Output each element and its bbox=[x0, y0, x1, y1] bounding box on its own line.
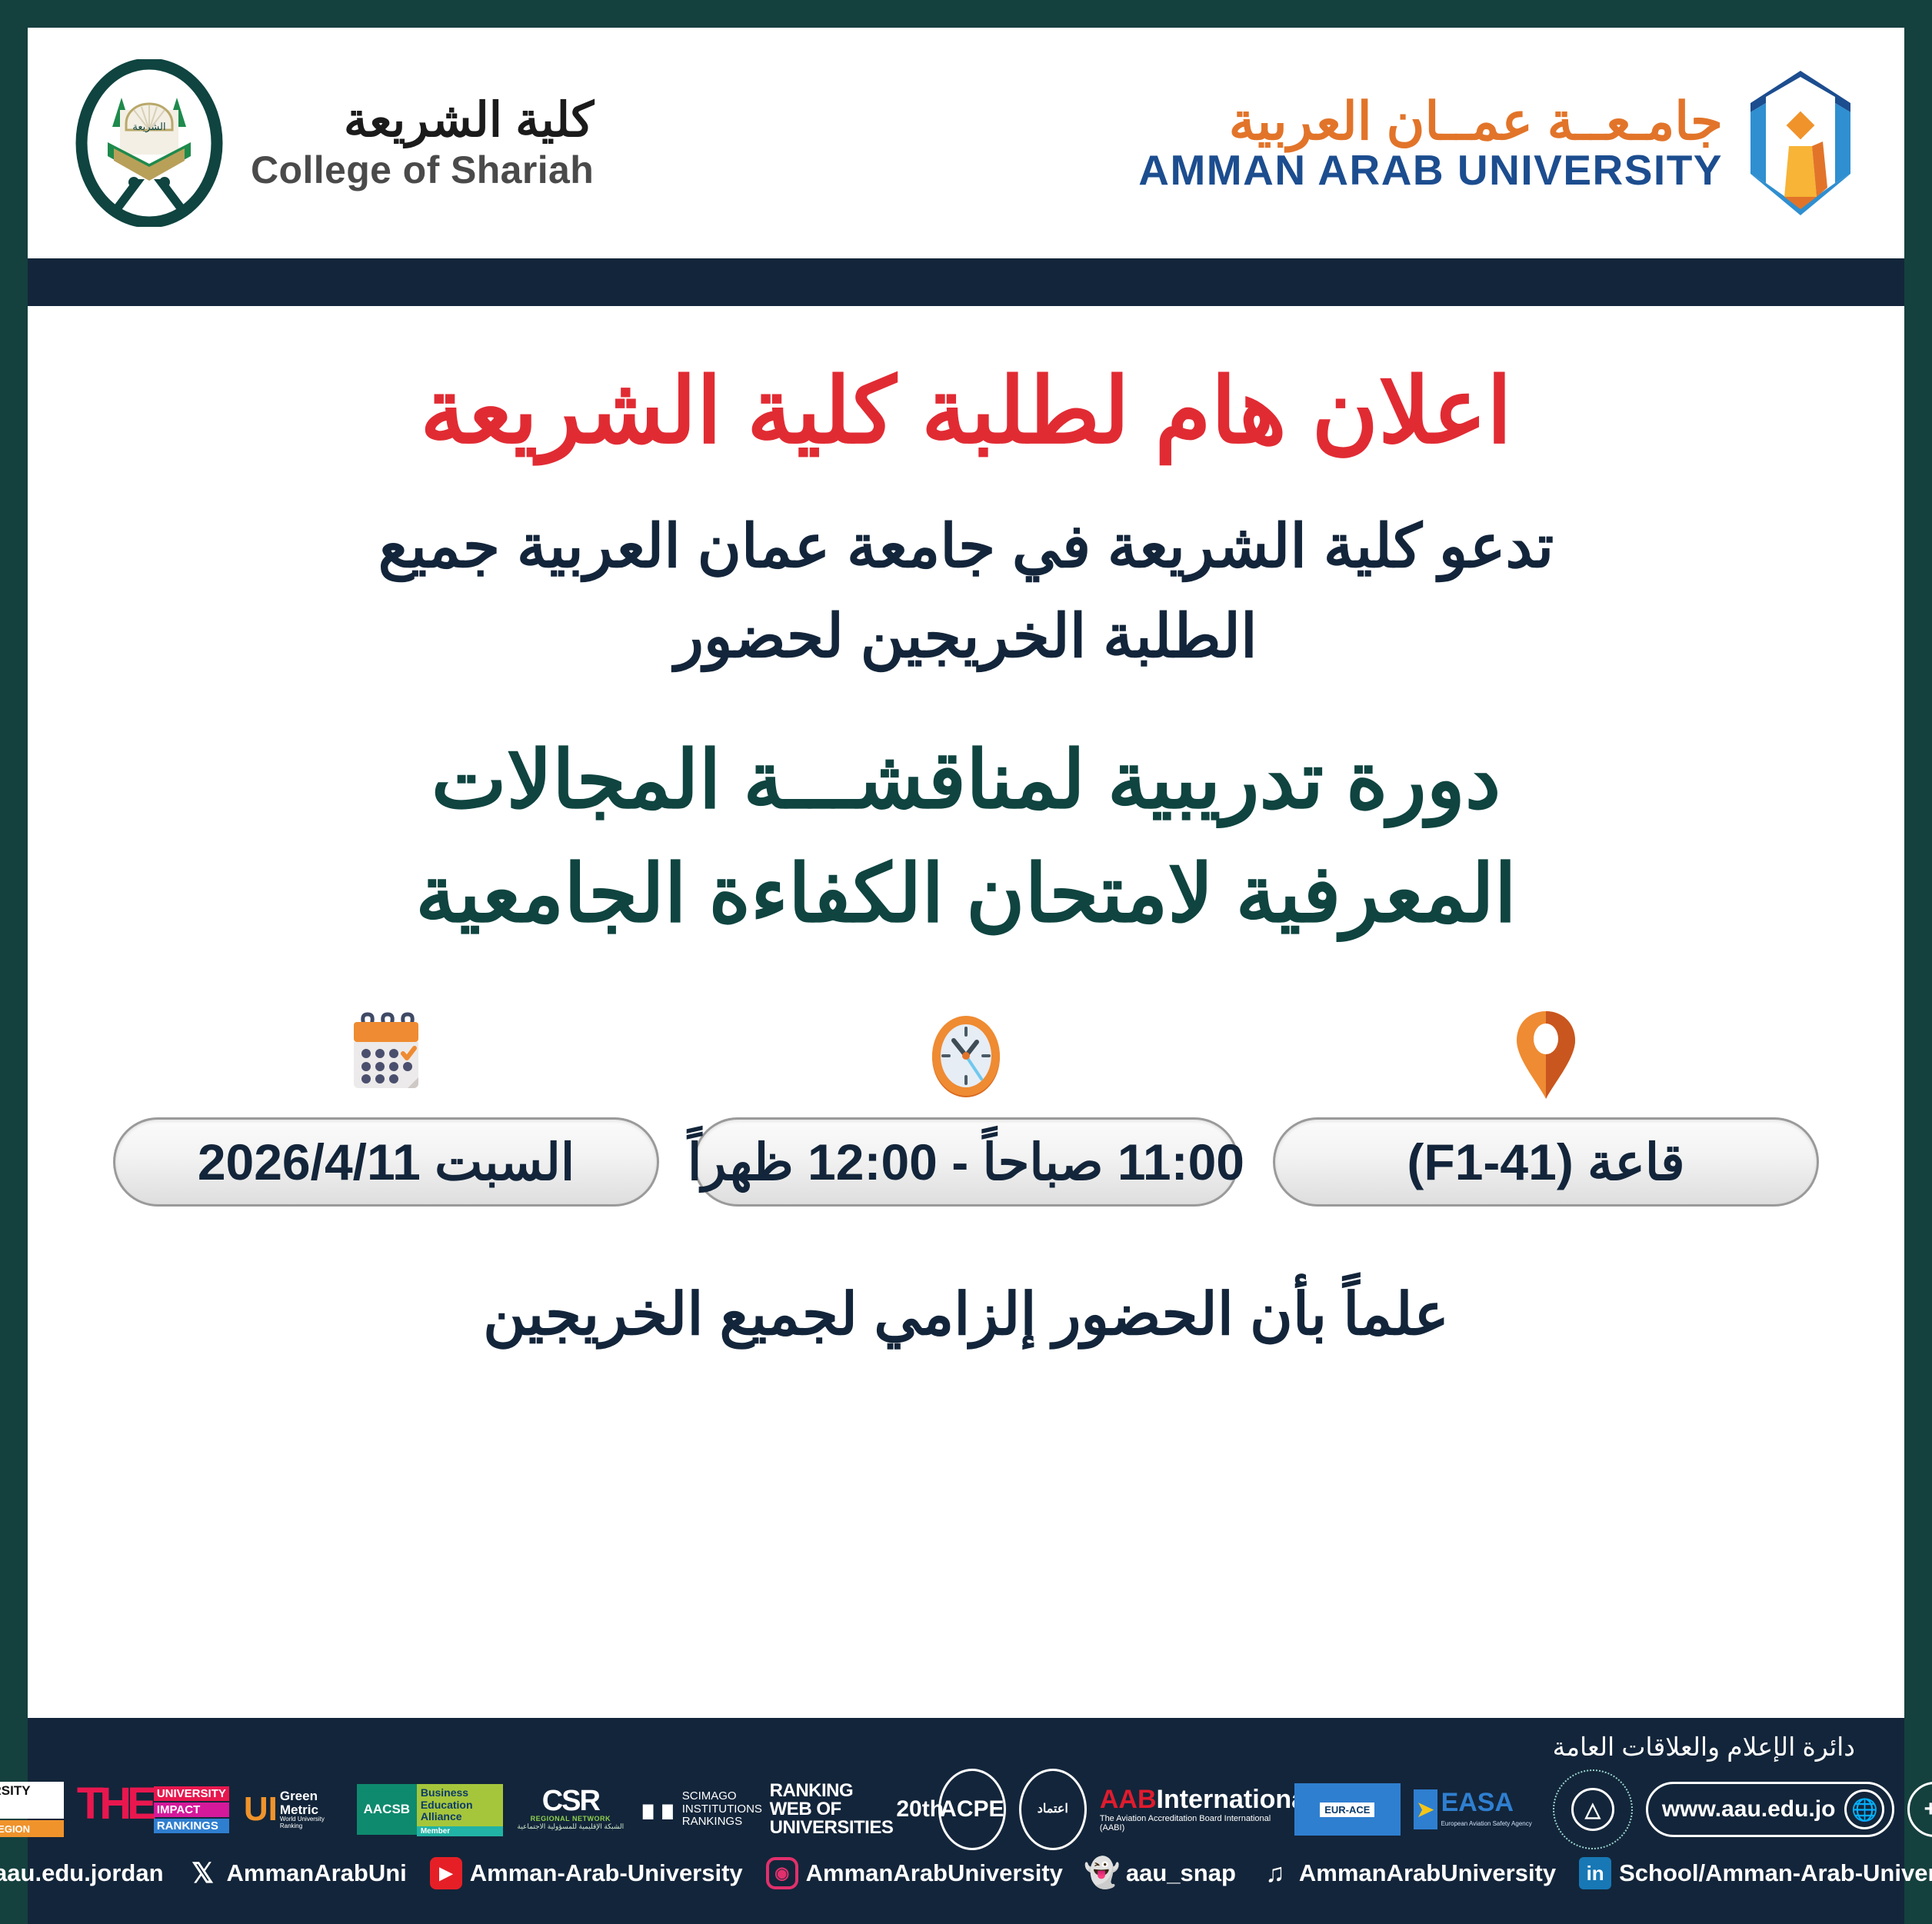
the-impact-rankings-badge: THE UNIVERSITY IMPACT RANKINGS bbox=[77, 1786, 231, 1833]
greenmetric-green: Green bbox=[280, 1789, 344, 1803]
university-name-english: AMMAN ARAB UNIVERSITY bbox=[1138, 149, 1723, 191]
announcement-headline: اعلان هام لطلبة كلية الشريعة bbox=[420, 357, 1512, 468]
university-brand: جامـعــة عمــان العربية AMMAN ARAB UNIVE… bbox=[1138, 66, 1858, 220]
facebook-link[interactable]: f aau.edu.jordan bbox=[0, 1857, 164, 1889]
college-brand: الشريعة كلية الشريعة College of Shariah bbox=[74, 59, 594, 227]
globe-icon: 🌐 bbox=[1844, 1789, 1884, 1829]
clock-icon-wrap bbox=[921, 1005, 1011, 1103]
time-value: 11:00 صباحاً - 12:00 ظهراً bbox=[688, 1133, 1244, 1192]
the-line-3: RANKINGS bbox=[154, 1819, 229, 1833]
snapchat-handle: aau_snap bbox=[1126, 1859, 1236, 1887]
the-wordmark: THE bbox=[77, 1786, 152, 1833]
accreditation-glyph-icon: △ bbox=[1571, 1788, 1614, 1831]
youtube-icon: ▶ bbox=[430, 1857, 462, 1889]
aab-subtitle: The Aviation Accreditation Board Interna… bbox=[1100, 1814, 1281, 1832]
greenmetric-metric: Metric bbox=[280, 1803, 344, 1817]
scimago-label: SCIMAGO INSTITUTIONS RANKINGS bbox=[682, 1790, 775, 1829]
ranking-web-of-universities-badge: RANKING WEB OF UNIVERSITIES 20th bbox=[788, 1782, 925, 1837]
csr-network-arabic: الشبكة الإقليمية للمسؤولية الاجتماعية bbox=[518, 1822, 625, 1831]
website-chip[interactable]: www.aau.edu.jo 🌐 bbox=[1646, 1782, 1895, 1837]
time-pill: 11:00 صباحاً - 12:00 ظهراً bbox=[693, 1117, 1239, 1207]
easa-badge: ➤ EASA European Aviation Safety Agency bbox=[1414, 1789, 1540, 1829]
eur-ace-label: EUR-ACE bbox=[1320, 1803, 1374, 1817]
phone-chip[interactable]: +962 6 4791400 ☎ bbox=[1907, 1782, 1932, 1837]
snapchat-link[interactable]: 👻 aau_snap bbox=[1086, 1857, 1236, 1889]
announcement-intro: تدعو كلية الشريعة في جامعة عمان العربية … bbox=[378, 501, 1554, 681]
poster-footer: دائرة الإعلام والعلاقات العامة DNV AAU Q… bbox=[28, 1718, 1904, 1924]
event-detail-date: السبت 2026/4/11 bbox=[113, 1005, 659, 1207]
x-twitter-handle: AmmanArabUni bbox=[227, 1859, 407, 1887]
easa-star-icon: ➤ bbox=[1414, 1789, 1437, 1829]
date-value: السبت 2026/4/11 bbox=[198, 1133, 575, 1192]
intro-line-2: الطلبة الخريجين لحضور bbox=[378, 591, 1554, 681]
greenmetric-caption: World University Ranking bbox=[280, 1816, 344, 1829]
linkedin-link[interactable]: in School/Amman-Arab-University bbox=[1579, 1857, 1932, 1889]
header-divider bbox=[28, 258, 1904, 306]
qs-line-2: RANKINGS bbox=[0, 1800, 64, 1819]
event-title-line-2: المعرفية لامتحان الكفاءة الجامعية bbox=[415, 838, 1517, 952]
clock-icon bbox=[921, 1010, 1011, 1103]
qs-line-1: UNIVERSITY bbox=[0, 1782, 64, 1800]
mandatory-attendance-note: علماً بأن الحضور إلزامي لجميع الخريجين bbox=[483, 1277, 1449, 1353]
college-name-arabic: كلية الشريعة bbox=[251, 95, 594, 145]
date-pill: السبت 2026/4/11 bbox=[113, 1117, 659, 1207]
department-credit: دائرة الإعلام والعلاقات العامة bbox=[1553, 1732, 1855, 1762]
aacsb-alliance: Business Education Alliance bbox=[417, 1784, 503, 1826]
svg-text:الشريعة: الشريعة bbox=[132, 121, 165, 133]
instagram-link[interactable]: ◉ AmmanArabUniversity bbox=[766, 1857, 1063, 1889]
x-twitter-link[interactable]: 𝕏 AmmanArabUni bbox=[187, 1857, 407, 1889]
instagram-handle: AmmanArabUniversity bbox=[806, 1859, 1063, 1887]
aacsb-badge: AACSB Business Education Alliance Member bbox=[357, 1784, 503, 1835]
youtube-link[interactable]: ▶ Amman-Arab-University bbox=[430, 1857, 743, 1889]
acpe-international-badge: ACPE bbox=[938, 1769, 1006, 1850]
linkedin-handle: School/Amman-Arab-University bbox=[1619, 1859, 1932, 1887]
amman-arab-university-mark-icon bbox=[1743, 66, 1858, 220]
announcement-poster: الشريعة كلية الشريعة College of Shariah … bbox=[0, 0, 1932, 1924]
ranking-web-anniversary: 20th bbox=[896, 1798, 944, 1821]
instagram-icon: ◉ bbox=[766, 1857, 798, 1889]
the-line-1: UNIVERSITY bbox=[154, 1786, 229, 1801]
aab-international-badge: AABInternational The Aviation Accreditat… bbox=[1100, 1786, 1281, 1832]
facebook-handle: aau.edu.jordan bbox=[0, 1859, 164, 1887]
ranking-web-label: RANKING WEB OF UNIVERSITIES bbox=[770, 1782, 894, 1837]
location-pin-icon bbox=[1509, 1008, 1583, 1103]
intro-line-1: تدعو كلية الشريعة في جامعة عمان العربية … bbox=[378, 501, 1554, 591]
csr-regional-network-badge: CSR REGIONAL NETWORK الشبكة الإقليمية لل… bbox=[516, 1788, 625, 1830]
venue-pill: قاعة (F1-41) bbox=[1273, 1117, 1819, 1207]
event-details-row: السبت 2026/4/11 bbox=[89, 1005, 1843, 1207]
linkedin-icon: in bbox=[1579, 1857, 1611, 1889]
tiktok-icon: ♫ bbox=[1259, 1857, 1291, 1889]
calendar-icon bbox=[343, 1010, 429, 1103]
college-name-english: College of Shariah bbox=[251, 150, 594, 191]
aab-international: International bbox=[1157, 1785, 1314, 1814]
university-name-arabic: جامـعــة عمــان العربية bbox=[1229, 95, 1723, 148]
eur-ace-badge: EUR-ACE bbox=[1294, 1783, 1401, 1836]
event-detail-venue: قاعة (F1-41) bbox=[1273, 1005, 1819, 1207]
the-line-2: IMPACT bbox=[154, 1803, 229, 1817]
youtube-handle: Amman-Arab-University bbox=[470, 1859, 743, 1887]
location-pin-icon-wrap bbox=[1509, 1005, 1583, 1103]
aacsb-member: Member bbox=[417, 1826, 503, 1836]
easa-subtitle: European Aviation Safety Agency bbox=[1441, 1820, 1532, 1827]
qs-university-rankings-badge: QS UNIVERSITY RANKINGS ARAB REGION bbox=[0, 1782, 64, 1837]
x-twitter-icon: 𝕏 bbox=[187, 1857, 219, 1889]
aab-wordmark: AAB bbox=[1100, 1785, 1157, 1814]
scimago-institutions-rankings-badge: ∎∎ SCIMAGO INSTITUTIONS RANKINGS bbox=[638, 1790, 775, 1829]
snapchat-icon: 👻 bbox=[1086, 1857, 1118, 1889]
calendar-icon-wrap bbox=[343, 1005, 429, 1103]
event-detail-time: 11:00 صباحاً - 12:00 ظهراً bbox=[693, 1005, 1239, 1207]
venue-value: قاعة (F1-41) bbox=[1407, 1133, 1684, 1192]
csr-wordmark: CSR bbox=[542, 1788, 599, 1814]
aacsb-wordmark: AACSB bbox=[357, 1784, 417, 1835]
tiktok-handle: AmmanArabUniversity bbox=[1299, 1859, 1556, 1887]
tiktok-link[interactable]: ♫ AmmanArabUniversity bbox=[1259, 1857, 1556, 1889]
easa-wordmark: EASA bbox=[1441, 1788, 1514, 1817]
csr-network: REGIONAL NETWORK bbox=[531, 1815, 611, 1822]
poster-header: الشريعة كلية الشريعة College of Shariah … bbox=[28, 28, 1904, 258]
ui-wordmark: UI bbox=[244, 1795, 278, 1823]
social-links: f aau.edu.jordan 𝕏 AmmanArabUni ▶ Amman-… bbox=[77, 1857, 1855, 1889]
acpe-label: ACPE bbox=[940, 1799, 1004, 1819]
event-title-line-1: دورة تدريبية لمناقشـــة المجالات bbox=[415, 724, 1517, 838]
islamic-accreditation-badge: اعتماد bbox=[1019, 1769, 1087, 1850]
event-title: دورة تدريبية لمناقشـــة المجالات المعرفي… bbox=[415, 724, 1517, 951]
ui-greenmetric-badge: UI Green Metric World University Ranking bbox=[244, 1789, 344, 1829]
islamic-accreditation-label: اعتماد bbox=[1038, 1804, 1068, 1815]
accreditation-in-progress-badge: △ bbox=[1553, 1769, 1633, 1849]
shariah-college-seal-icon: الشريعة bbox=[74, 59, 225, 227]
phone-number: +962 6 4791400 bbox=[1924, 1796, 1932, 1822]
poster-body: اعلان هام لطلبة كلية الشريعة تدعو كلية ا… bbox=[28, 306, 1904, 1718]
qs-region: ARAB REGION bbox=[0, 1820, 64, 1837]
accreditation-badges: DNV AAU QA QS UNIVERSITY RANKINGS ARAB R… bbox=[77, 1773, 1855, 1846]
website-url: www.aau.edu.jo bbox=[1662, 1796, 1836, 1822]
scimago-temple-icon: ∎∎ bbox=[638, 1796, 678, 1823]
